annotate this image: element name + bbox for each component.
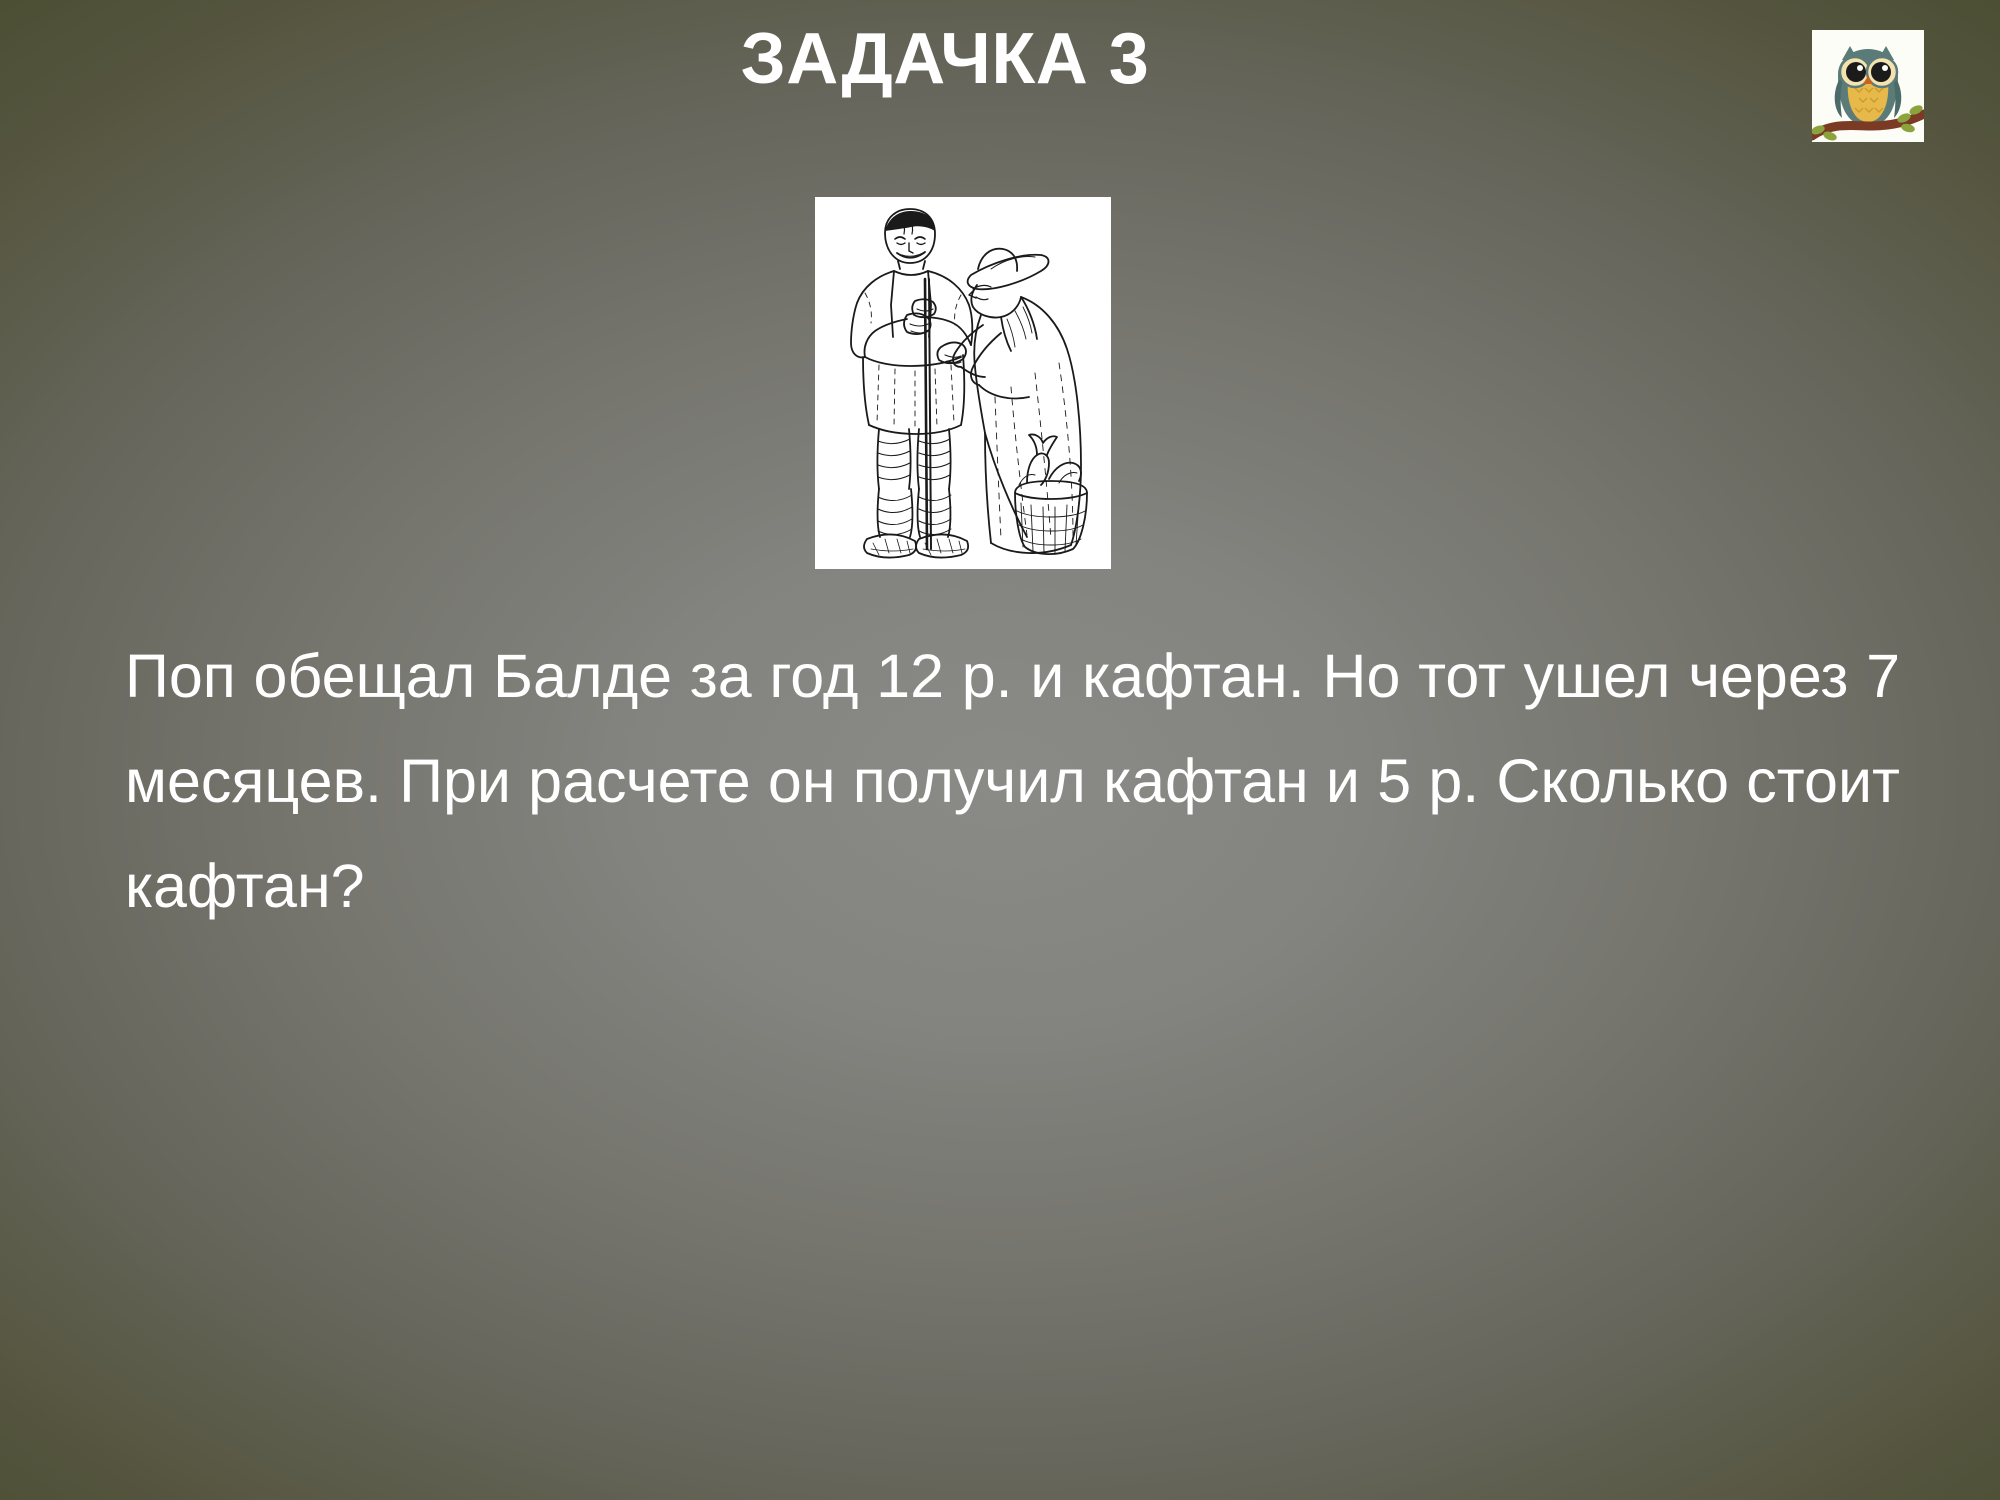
peasant-and-priest-line-drawing [815, 197, 1111, 569]
balda-and-priest-illustration [815, 197, 1111, 569]
presentation-slide: ЗАДАЧКА 3 [0, 0, 2000, 1500]
page-title: ЗАДАЧКА 3 [0, 22, 1890, 98]
owl-on-branch-logo [1812, 30, 1924, 142]
problem-statement-text: Поп обещал Балде за год 12 р. и кафтан. … [125, 624, 1900, 1044]
owl-icon [1812, 30, 1924, 142]
